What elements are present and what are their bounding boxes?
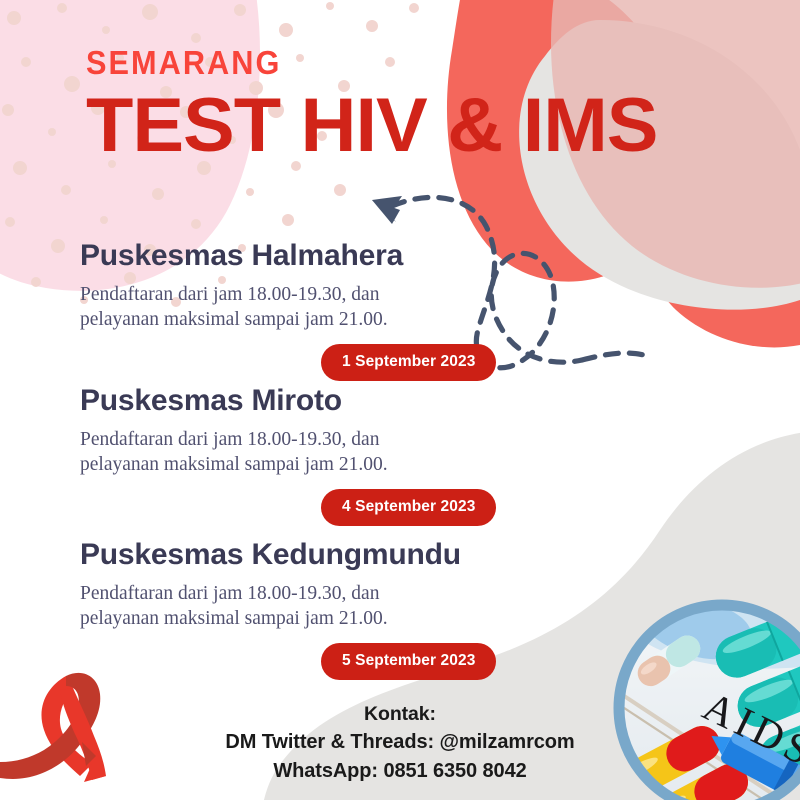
date-badge[interactable]: 4 September 2023 [321, 489, 496, 526]
location-block: Puskesmas Miroto Pendaftaran dari jam 18… [80, 385, 500, 526]
location-block: Puskesmas Halmahera Pendaftaran dari jam… [80, 240, 500, 381]
location-schedule: Pendaftaran dari jam 18.00-19.30, dan pe… [80, 282, 440, 334]
city-kicker: SEMARANG [86, 46, 700, 79]
date-badge-row: 5 September 2023 [80, 643, 500, 680]
contact-label: Kontak: [0, 700, 800, 728]
location-name: Puskesmas Miroto [80, 385, 500, 417]
contact-whatsapp[interactable]: WhatsApp: 0851 6350 8042 [0, 757, 800, 786]
location-name: Puskesmas Kedungmundu [80, 539, 500, 571]
location-block: Puskesmas Kedungmundu Pendaftaran dari j… [80, 539, 500, 680]
date-badge[interactable]: 5 September 2023 [321, 643, 496, 680]
location-schedule: Pendaftaran dari jam 18.00-19.30, dan pe… [80, 427, 440, 479]
date-badge[interactable]: 1 September 2023 [321, 344, 496, 381]
arrow-head-icon [372, 196, 402, 224]
page-title: TEST HIV & IMS [86, 88, 759, 164]
date-badge-row: 1 September 2023 [80, 344, 500, 381]
contact-social[interactable]: DM Twitter & Threads: @milzamrcom [0, 728, 800, 757]
date-badge-row: 4 September 2023 [80, 489, 500, 526]
location-name: Puskesmas Halmahera [80, 240, 500, 272]
location-schedule: Pendaftaran dari jam 18.00-19.30, dan pe… [80, 581, 440, 633]
contact-section: Kontak: DM Twitter & Threads: @milzamrco… [0, 700, 800, 786]
poster-header: SEMARANG TEST HIV & IMS [86, 46, 746, 164]
poster-canvas: AIDS SEMARANG TEST HIV & IMS Puskesmas H… [0, 0, 800, 800]
